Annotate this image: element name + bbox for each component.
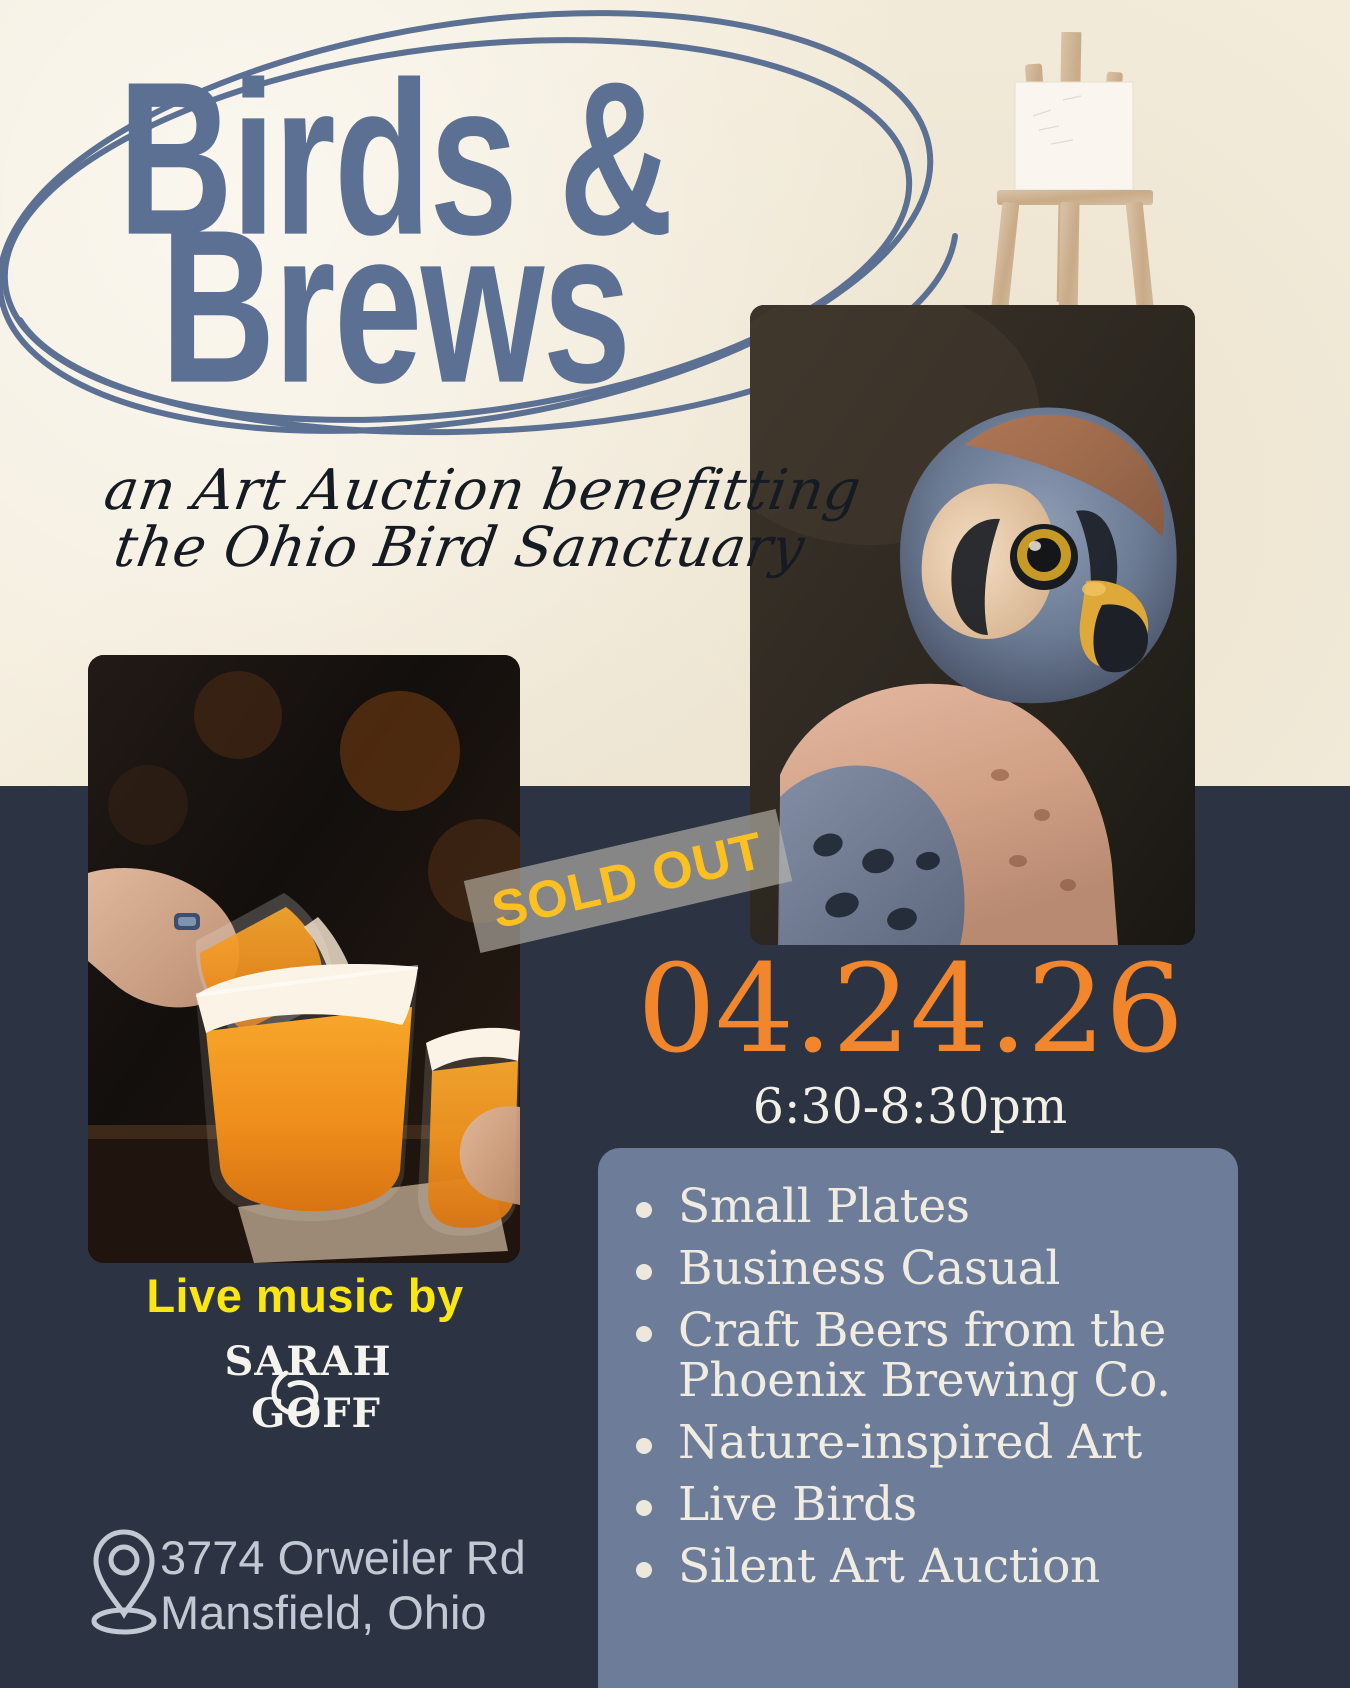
- list-item: Small Plates: [626, 1182, 1220, 1233]
- artist-logo: SARAH GOFF: [70, 1331, 540, 1439]
- list-item: Live Birds: [626, 1480, 1220, 1531]
- address-lines: 3774 Orweiler Rd Mansfield, Ohio: [160, 1524, 526, 1641]
- feature-label: Live Birds: [678, 1480, 1220, 1531]
- feature-label: Business Casual: [678, 1244, 1220, 1295]
- poster-subtitle: an Art Auction benefitting the Ohio Bird…: [105, 462, 765, 575]
- event-date: 04.24.26: [594, 948, 1226, 1070]
- live-music-label: Live music by: [70, 1268, 540, 1323]
- subtitle-line-2: the Ohio Bird Sanctuary: [101, 519, 770, 575]
- feature-label: Small Plates: [678, 1182, 1220, 1233]
- subtitle-line-1: an Art Auction benefitting: [100, 462, 769, 519]
- list-item: Business Casual: [626, 1244, 1220, 1295]
- list-item: Silent Art Auction: [626, 1542, 1220, 1593]
- address-line-1: 3774 Orweiler Rd: [160, 1530, 526, 1585]
- event-poster: Birds & Brews an Art Auction benefitting…: [0, 0, 1350, 1688]
- event-time: 6:30-8:30pm: [600, 1078, 1220, 1135]
- list-item: Craft Beers from the Phoenix Brewing Co.: [626, 1306, 1220, 1408]
- event-date-block: 04.24.26 6:30-8:30pm: [600, 948, 1220, 1135]
- title-line-2: Brews: [55, 220, 734, 395]
- bullet-icon: [636, 1202, 652, 1218]
- list-item: Nature-inspired Art: [626, 1418, 1220, 1469]
- live-music-section: Live music by SARAH GOFF: [70, 1268, 540, 1439]
- feature-label: Craft Beers from the Phoenix Brewing Co.: [678, 1306, 1220, 1408]
- bullet-icon: [636, 1326, 652, 1342]
- bullet-icon: [636, 1438, 652, 1454]
- poster-title: Birds & Brews: [0, 72, 790, 368]
- svg-text:SARAH: SARAH: [225, 1338, 392, 1385]
- map-pin-icon: [88, 1526, 160, 1638]
- bullet-icon: [636, 1500, 652, 1516]
- beer-pour-photo: [88, 655, 520, 1263]
- event-features-card: Small Plates Business Casual Craft Beers…: [598, 1148, 1238, 1688]
- kestrel-bird-photo: [750, 305, 1195, 945]
- feature-label: Silent Art Auction: [678, 1542, 1220, 1593]
- feature-label: Nature-inspired Art: [678, 1418, 1220, 1469]
- bullet-icon: [636, 1264, 652, 1280]
- bullet-icon: [636, 1562, 652, 1578]
- venue-address: 3774 Orweiler Rd Mansfield, Ohio: [88, 1524, 588, 1641]
- address-line-2: Mansfield, Ohio: [160, 1585, 526, 1640]
